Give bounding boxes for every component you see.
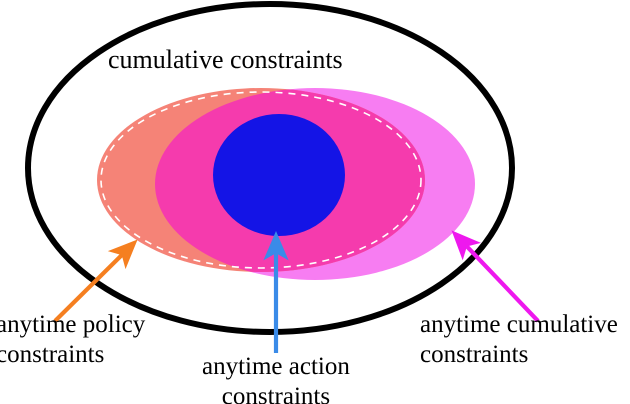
anytime-action-constraints-label-line2: constraints bbox=[202, 382, 350, 404]
cumulative-constraints-title: cumulative constraints bbox=[108, 45, 343, 75]
anytime-action-constraints-label-line1: anytime action bbox=[202, 352, 350, 382]
anytime-action-constraints-circle bbox=[213, 114, 345, 236]
cumulative-arrow bbox=[455, 234, 538, 321]
anytime-policy-constraints-label: anytime policy constraints bbox=[0, 310, 145, 370]
anytime-cumulative-constraints-label-line2: constraints bbox=[420, 340, 618, 370]
figure-canvas: cumulative constraints anytime policy co… bbox=[0, 0, 630, 404]
anytime-cumulative-constraints-label: anytime cumulative constraints bbox=[420, 310, 618, 370]
anytime-cumulative-constraints-label-line1: anytime cumulative bbox=[420, 310, 618, 340]
anytime-policy-constraints-label-line2: constraints bbox=[0, 340, 145, 370]
anytime-action-constraints-label: anytime action constraints bbox=[202, 352, 350, 404]
anytime-policy-constraints-label-line1: anytime policy bbox=[0, 310, 145, 340]
